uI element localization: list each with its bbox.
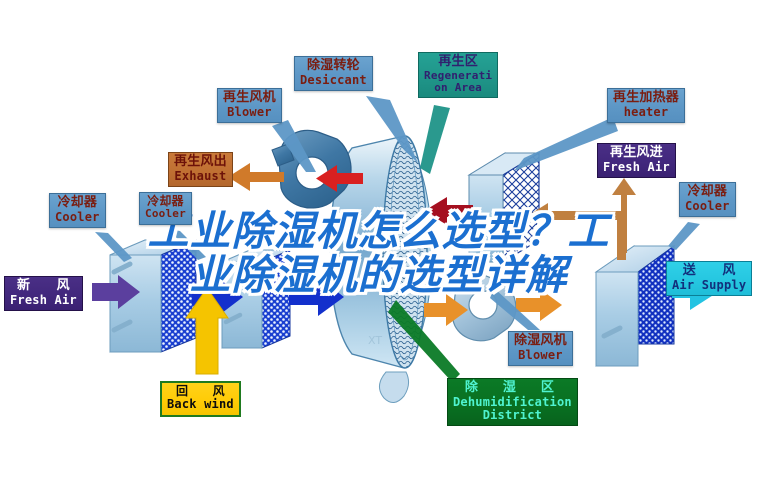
label-cooler-right[interactable]: 冷却器 Cooler [679, 182, 736, 217]
label-desiccant-rotor-cn: 除湿转轮 [300, 59, 367, 74]
label-air-supply[interactable]: 送 风 Air Supply [666, 261, 752, 296]
label-cooler-left-en: Cooler [55, 211, 100, 224]
label-dehumidification-district-en2: District [453, 409, 572, 422]
heater-coil [469, 153, 539, 262]
label-regeneration-fresh-air[interactable]: 再生风进 Fresh Air [597, 143, 676, 178]
label-regeneration-exhaust-cn: 再生风出 [174, 155, 227, 170]
label-fresh-air-in-en: Fresh Air [10, 294, 77, 307]
svg-text:XT: XT [368, 334, 382, 347]
label-regeneration-area-en2: on Area [424, 82, 492, 94]
label-regeneration-blower[interactable]: 再生风机 Blower [217, 88, 282, 123]
label-cooler-mid-cn: 冷却器 [145, 195, 186, 208]
dehumidifier-schematic: XT [0, 0, 757, 488]
label-air-supply-cn: 送 风 [672, 264, 746, 279]
label-cooler-right-cn: 冷却器 [685, 185, 730, 200]
label-dehumidification-district-cn: 除 湿 区 [453, 381, 572, 396]
label-regeneration-heater[interactable]: 再生加热器 heater [607, 88, 685, 123]
label-dehumidification-district[interactable]: 除 湿 区 Dehumidification District [447, 378, 578, 426]
label-air-supply-en: Air Supply [672, 279, 746, 292]
regen-fresh-air-arrow-left [528, 203, 624, 228]
label-regeneration-blower-cn: 再生风机 [223, 91, 276, 106]
label-regeneration-exhaust-en: Exhaust [174, 170, 227, 183]
diagram-canvas: XT [0, 0, 757, 488]
label-desiccant-rotor[interactable]: 除湿转轮 Desiccant [294, 56, 373, 91]
label-regeneration-area-cn: 再生区 [424, 55, 492, 70]
label-regeneration-fresh-air-cn: 再生风进 [603, 146, 670, 161]
label-cooler-left[interactable]: 冷却器 Cooler [49, 193, 106, 228]
label-fresh-air-in-cn: 新 风 [10, 279, 77, 294]
label-regeneration-area-en1: Regenerati [424, 70, 492, 82]
label-back-wind-en: Back wind [167, 398, 234, 411]
exhaust-arrow [228, 163, 284, 191]
label-regeneration-blower-en: Blower [223, 106, 276, 119]
label-regeneration-exhaust[interactable]: 再生风出 Exhaust [168, 152, 233, 187]
label-regeneration-heater-cn: 再生加热器 [613, 91, 679, 106]
label-cooler-right-en: Cooler [685, 200, 730, 213]
regen-hot-air-arrow [424, 197, 473, 225]
label-regeneration-heater-en: heater [613, 106, 679, 119]
label-dehumidification-blower-cn: 除湿风机 [514, 334, 567, 349]
label-back-wind-cn: 回 风 [167, 385, 234, 398]
label-back-wind[interactable]: 回 风 Back wind [160, 381, 241, 417]
label-regeneration-area[interactable]: 再生区 Regenerati on Area [418, 52, 498, 98]
label-dehumidification-district-en1: Dehumidification [453, 396, 572, 409]
label-cooler-mid-en: Cooler [145, 208, 186, 220]
label-desiccant-rotor-en: Desiccant [300, 74, 367, 87]
label-dehumidification-blower-en: Blower [514, 349, 567, 362]
label-fresh-air-in[interactable]: 新 风 Fresh Air [4, 276, 83, 311]
label-regeneration-fresh-air-en: Fresh Air [603, 161, 670, 174]
label-cooler-left-cn: 冷却器 [55, 196, 100, 211]
label-cooler-mid[interactable]: 冷却器 Cooler [139, 192, 192, 225]
label-dehumidification-blower[interactable]: 除湿风机 Blower [508, 331, 573, 366]
post-cooler-coil [596, 246, 674, 366]
